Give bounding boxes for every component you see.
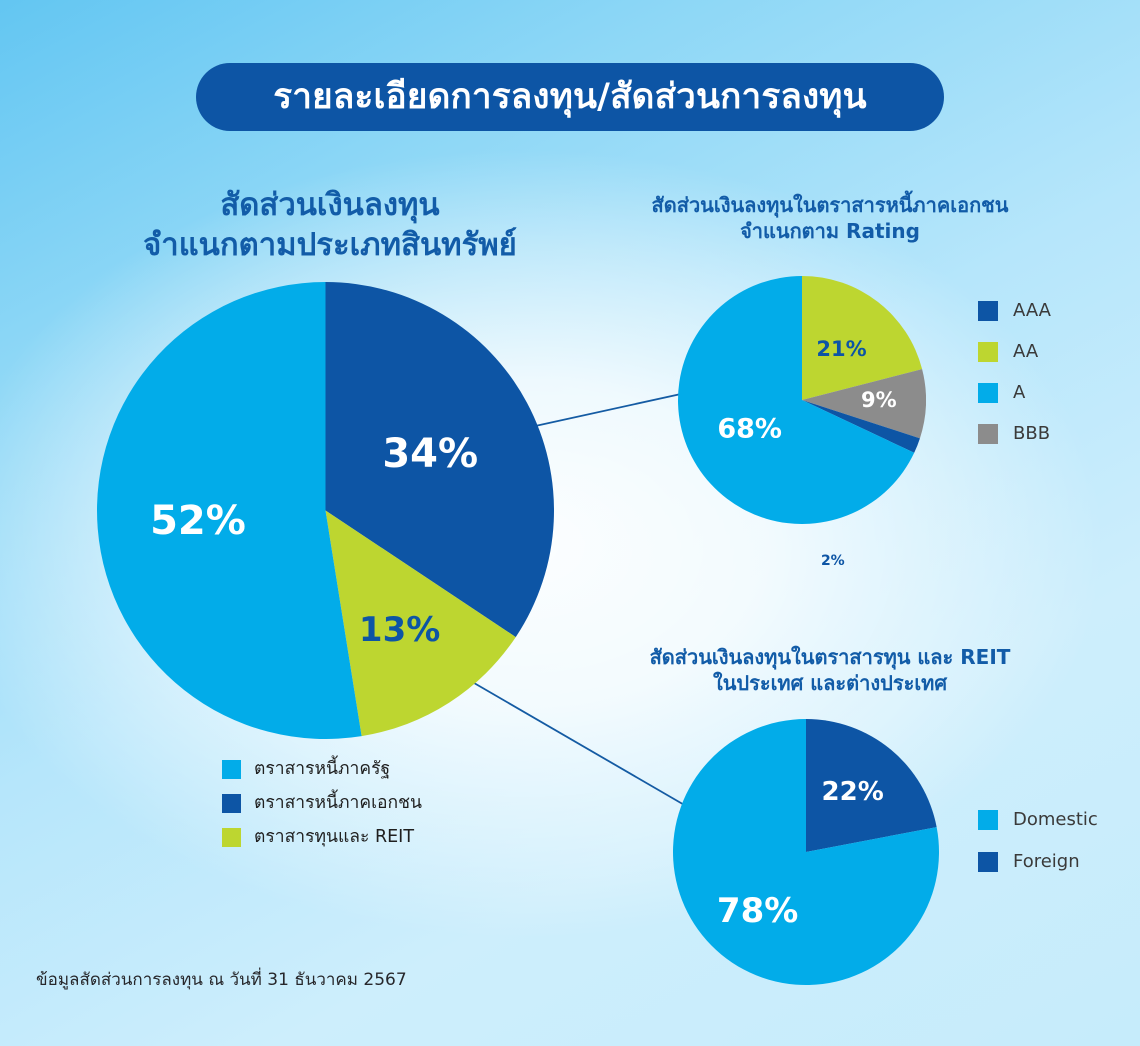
legend-asset-item[interactable]: ตราสารทุนและ REIT bbox=[222, 828, 422, 847]
pie-chart-asset-allocation: 34%13%52% bbox=[97, 282, 554, 739]
equity-chart-title-line2: ในประเทศ และต่างประเทศ bbox=[620, 670, 1040, 696]
legend-swatch-icon bbox=[978, 342, 998, 362]
legend-label: ตราสารหนี้ภาครัฐ bbox=[254, 761, 390, 779]
legend-rating-item[interactable]: AAA bbox=[978, 301, 1051, 321]
equity-chart-title-line1: สัดส่วนเงินลงทุนในตราสารทุน และ REIT bbox=[620, 644, 1040, 670]
legend-equity-item[interactable]: Foreign bbox=[978, 852, 1098, 872]
main-chart-title: สัดส่วนเงินลงทุน จำแนกตามประเภทสินทรัพย์ bbox=[100, 185, 560, 266]
pie-svg bbox=[97, 282, 554, 739]
legend-rating-item[interactable]: BBB bbox=[978, 424, 1051, 444]
legend-swatch-icon bbox=[222, 828, 241, 847]
rating-chart-title-line2: จำแนกตาม Rating bbox=[620, 218, 1040, 244]
rating-chart-title-line1: สัดส่วนเงินลงทุนในตราสารหนี้ภาคเอกชน bbox=[620, 192, 1040, 218]
main-chart-title-line1: สัดส่วนเงินลงทุน bbox=[100, 185, 560, 225]
legend-label: A bbox=[1013, 384, 1025, 402]
page-title-pill: รายละเอียดการลงทุน/สัดส่วนการลงทุน bbox=[196, 63, 944, 131]
legend-label: AA bbox=[1013, 343, 1038, 361]
legend-asset-item[interactable]: ตราสารหนี้ภาครัฐ bbox=[222, 760, 422, 779]
pie-slice-ตราสารหนี้ภาครัฐ[interactable] bbox=[97, 282, 362, 739]
legend-swatch-icon bbox=[978, 810, 998, 830]
main-chart-title-line2: จำแนกตามประเภทสินทรัพย์ bbox=[100, 225, 560, 265]
page-title: รายละเอียดการลงทุน/สัดส่วนการลงทุน bbox=[273, 80, 866, 115]
legend-swatch-icon bbox=[978, 852, 998, 872]
legend-swatch-icon bbox=[222, 794, 241, 813]
pie-svg bbox=[678, 276, 926, 524]
legend-label: BBB bbox=[1013, 425, 1050, 443]
legend-label: AAA bbox=[1013, 302, 1051, 320]
legend-asset-allocation: ตราสารหนี้ภาครัฐตราสารหนี้ภาคเอกชนตราสาร… bbox=[222, 760, 422, 862]
legend-swatch-icon bbox=[978, 301, 998, 321]
legend-swatch-icon bbox=[978, 424, 998, 444]
pie-chart-rating: 21%9%2%68% bbox=[678, 276, 926, 524]
legend-label: Foreign bbox=[1013, 853, 1080, 871]
legend-swatch-icon bbox=[978, 383, 998, 403]
rating-chart-title: สัดส่วนเงินลงทุนในตราสารหนี้ภาคเอกชน จำแ… bbox=[620, 192, 1040, 244]
legend-label: Domestic bbox=[1013, 811, 1098, 829]
legend-rating: AAAAAABBB bbox=[978, 301, 1051, 465]
pie-svg bbox=[673, 719, 939, 985]
legend-label: ตราสารหนี้ภาคเอกชน bbox=[254, 795, 422, 813]
data-as-of-footnote: ข้อมูลสัดส่วนการลงทุน ณ วันที่ 31 ธันวาค… bbox=[36, 972, 407, 989]
legend-swatch-icon bbox=[222, 760, 241, 779]
legend-rating-item[interactable]: AA bbox=[978, 342, 1051, 362]
legend-rating-item[interactable]: A bbox=[978, 383, 1051, 403]
legend-equity-item[interactable]: Domestic bbox=[978, 810, 1098, 830]
pie-chart-equity: 22%78% bbox=[673, 719, 939, 985]
equity-chart-title: สัดส่วนเงินลงทุนในตราสารทุน และ REIT ในป… bbox=[620, 644, 1040, 696]
legend-equity: DomesticForeign bbox=[978, 810, 1098, 894]
legend-asset-item[interactable]: ตราสารหนี้ภาคเอกชน bbox=[222, 794, 422, 813]
infographic-stage: รายละเอียดการลงทุน/สัดส่วนการลงทุน สัดส่… bbox=[0, 0, 1140, 1046]
pie-value-label-AAA: 2% bbox=[821, 553, 845, 569]
legend-label: ตราสารทุนและ REIT bbox=[254, 829, 414, 847]
